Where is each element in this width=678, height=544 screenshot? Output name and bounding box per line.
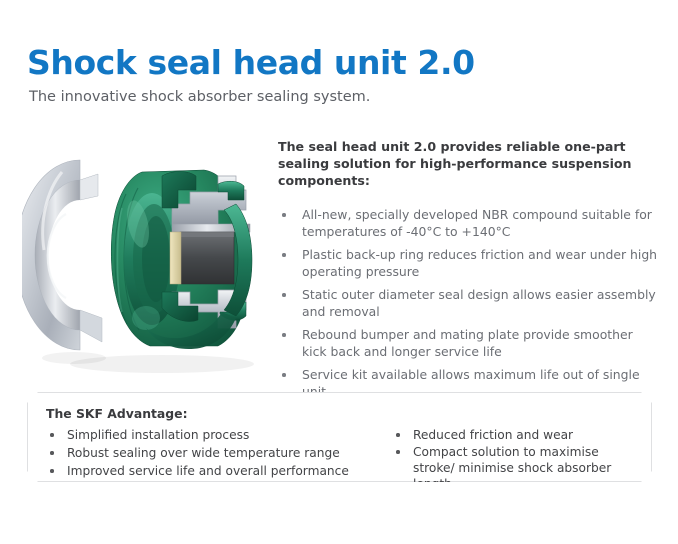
skf-advantage-right-list: Reduced friction and wear Compact soluti… <box>392 427 635 492</box>
seal-head-unit-illustration <box>22 132 274 380</box>
list-item: Simplified installation process <box>46 427 386 443</box>
list-item-label: Compact solution to maximise stroke/ min… <box>413 445 611 491</box>
list-item-label: Simplified installation process <box>67 428 249 442</box>
list-item-label: Robust sealing over wide temperature ran… <box>67 446 340 460</box>
list-item-label: Reduced friction and wear <box>413 428 573 442</box>
list-item: Robust sealing over wide temperature ran… <box>46 445 386 461</box>
list-item-label: Static outer diameter seal design allows… <box>302 287 656 319</box>
page-title: Shock seal head unit 2.0 <box>27 44 647 82</box>
features-list: All-new, specially developed NBR compoun… <box>278 207 660 400</box>
seal-head-body <box>111 170 252 349</box>
bullet-icon <box>282 253 286 257</box>
bullet-icon <box>50 433 54 437</box>
bullet-icon <box>282 333 286 337</box>
list-item: Compact solution to maximise stroke/ min… <box>392 444 635 492</box>
bullet-icon <box>50 451 54 455</box>
skf-advantage-title: The SKF Advantage: <box>46 406 635 421</box>
page-root: Shock seal head unit 2.0 The innovative … <box>0 0 678 544</box>
bullet-icon <box>396 433 400 437</box>
list-item: Rebound bumper and mating plate provide … <box>278 327 660 360</box>
bullet-icon <box>50 469 54 473</box>
bullet-icon <box>282 213 286 217</box>
skf-advantage-left-column: Simplified installation process Robust s… <box>46 427 386 481</box>
skf-advantage-inner: The SKF Advantage: Simplified installati… <box>28 393 651 481</box>
skf-advantage-box: The SKF Advantage: Simplified installati… <box>27 392 652 482</box>
features-heading: The seal head unit 2.0 provides reliable… <box>278 138 660 189</box>
list-item-label: Improved service life and overall perfor… <box>67 464 349 478</box>
bullet-icon <box>282 293 286 297</box>
list-item-label: Rebound bumper and mating plate provide … <box>302 327 633 359</box>
list-item-label: All-new, specially developed NBR compoun… <box>302 207 652 239</box>
bullet-icon <box>282 373 286 377</box>
bullet-icon <box>396 450 400 454</box>
product-image <box>22 132 274 380</box>
list-item: Static outer diameter seal design allows… <box>278 287 660 320</box>
list-item: Improved service life and overall perfor… <box>46 463 386 479</box>
retaining-ring <box>22 160 102 350</box>
page-header: Shock seal head unit 2.0 The innovative … <box>27 44 647 106</box>
skf-advantage-columns: Simplified installation process Robust s… <box>46 427 635 493</box>
skf-advantage-right-column: Reduced friction and wear Compact soluti… <box>386 427 635 493</box>
list-item-label: Plastic back-up ring reduces friction an… <box>302 247 657 279</box>
page-subtitle: The innovative shock absorber sealing sy… <box>29 88 647 106</box>
skf-advantage-left-list: Simplified installation process Robust s… <box>46 427 386 479</box>
list-item: Reduced friction and wear <box>392 427 635 443</box>
features-panel: The seal head unit 2.0 provides reliable… <box>278 138 660 407</box>
list-item: Plastic back-up ring reduces friction an… <box>278 247 660 280</box>
list-item: All-new, specially developed NBR compoun… <box>278 207 660 240</box>
